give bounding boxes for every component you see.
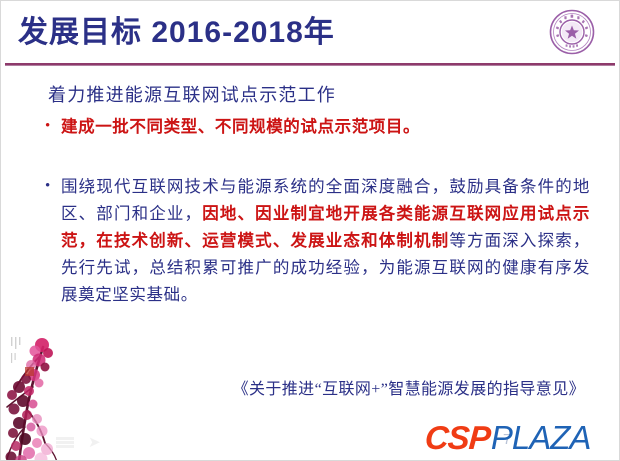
slide-body: 着力推进能源互联网试点示范工作 • 建成一批不同类型、不同规模的试点示范项目。 … bbox=[1, 67, 620, 367]
bullet-item-1: • 建成一批不同类型、不同规模的试点示范项目。 bbox=[45, 113, 590, 140]
watermark-csp-text: CSP bbox=[424, 419, 492, 457]
page-title: 发展目标 2016-2018年 bbox=[18, 15, 335, 51]
source-citation: 《关于推进“互联网+”智慧能源发展的指导意见》 bbox=[1, 379, 585, 401]
arrow-right-icon: ➤ bbox=[88, 437, 101, 449]
body-lead-line: 着力推进能源互联网试点示范工作 bbox=[48, 83, 336, 107]
bullet-item-2: • 围绕现代互联网技术与能源系统的全面深度融合，鼓励具备条件的地区、部门和企业，… bbox=[45, 173, 590, 308]
bullet-text-2: 围绕现代互联网技术与能源系统的全面深度融合，鼓励具备条件的地区、部门和企业，因地… bbox=[61, 173, 590, 308]
ghost-marks-decoration: ➤ bbox=[56, 437, 101, 449]
cspplaza-watermark: CSP PLAZA bbox=[425, 419, 590, 457]
bullet-marker-icon: • bbox=[45, 113, 61, 140]
bullet-text-1: 建成一批不同类型、不同规模的试点示范项目。 bbox=[61, 113, 590, 140]
title-divider bbox=[5, 63, 615, 65]
slide-header: 发展目标 2016-2018年 bbox=[1, 1, 620, 67]
university-seal-icon bbox=[549, 9, 595, 55]
lines-icon bbox=[56, 437, 74, 449]
slide: 发展目标 2016-2018年 bbox=[0, 0, 620, 461]
bullet-marker-icon: • bbox=[45, 173, 61, 200]
watermark-plaza-text: PLAZA bbox=[491, 419, 591, 457]
